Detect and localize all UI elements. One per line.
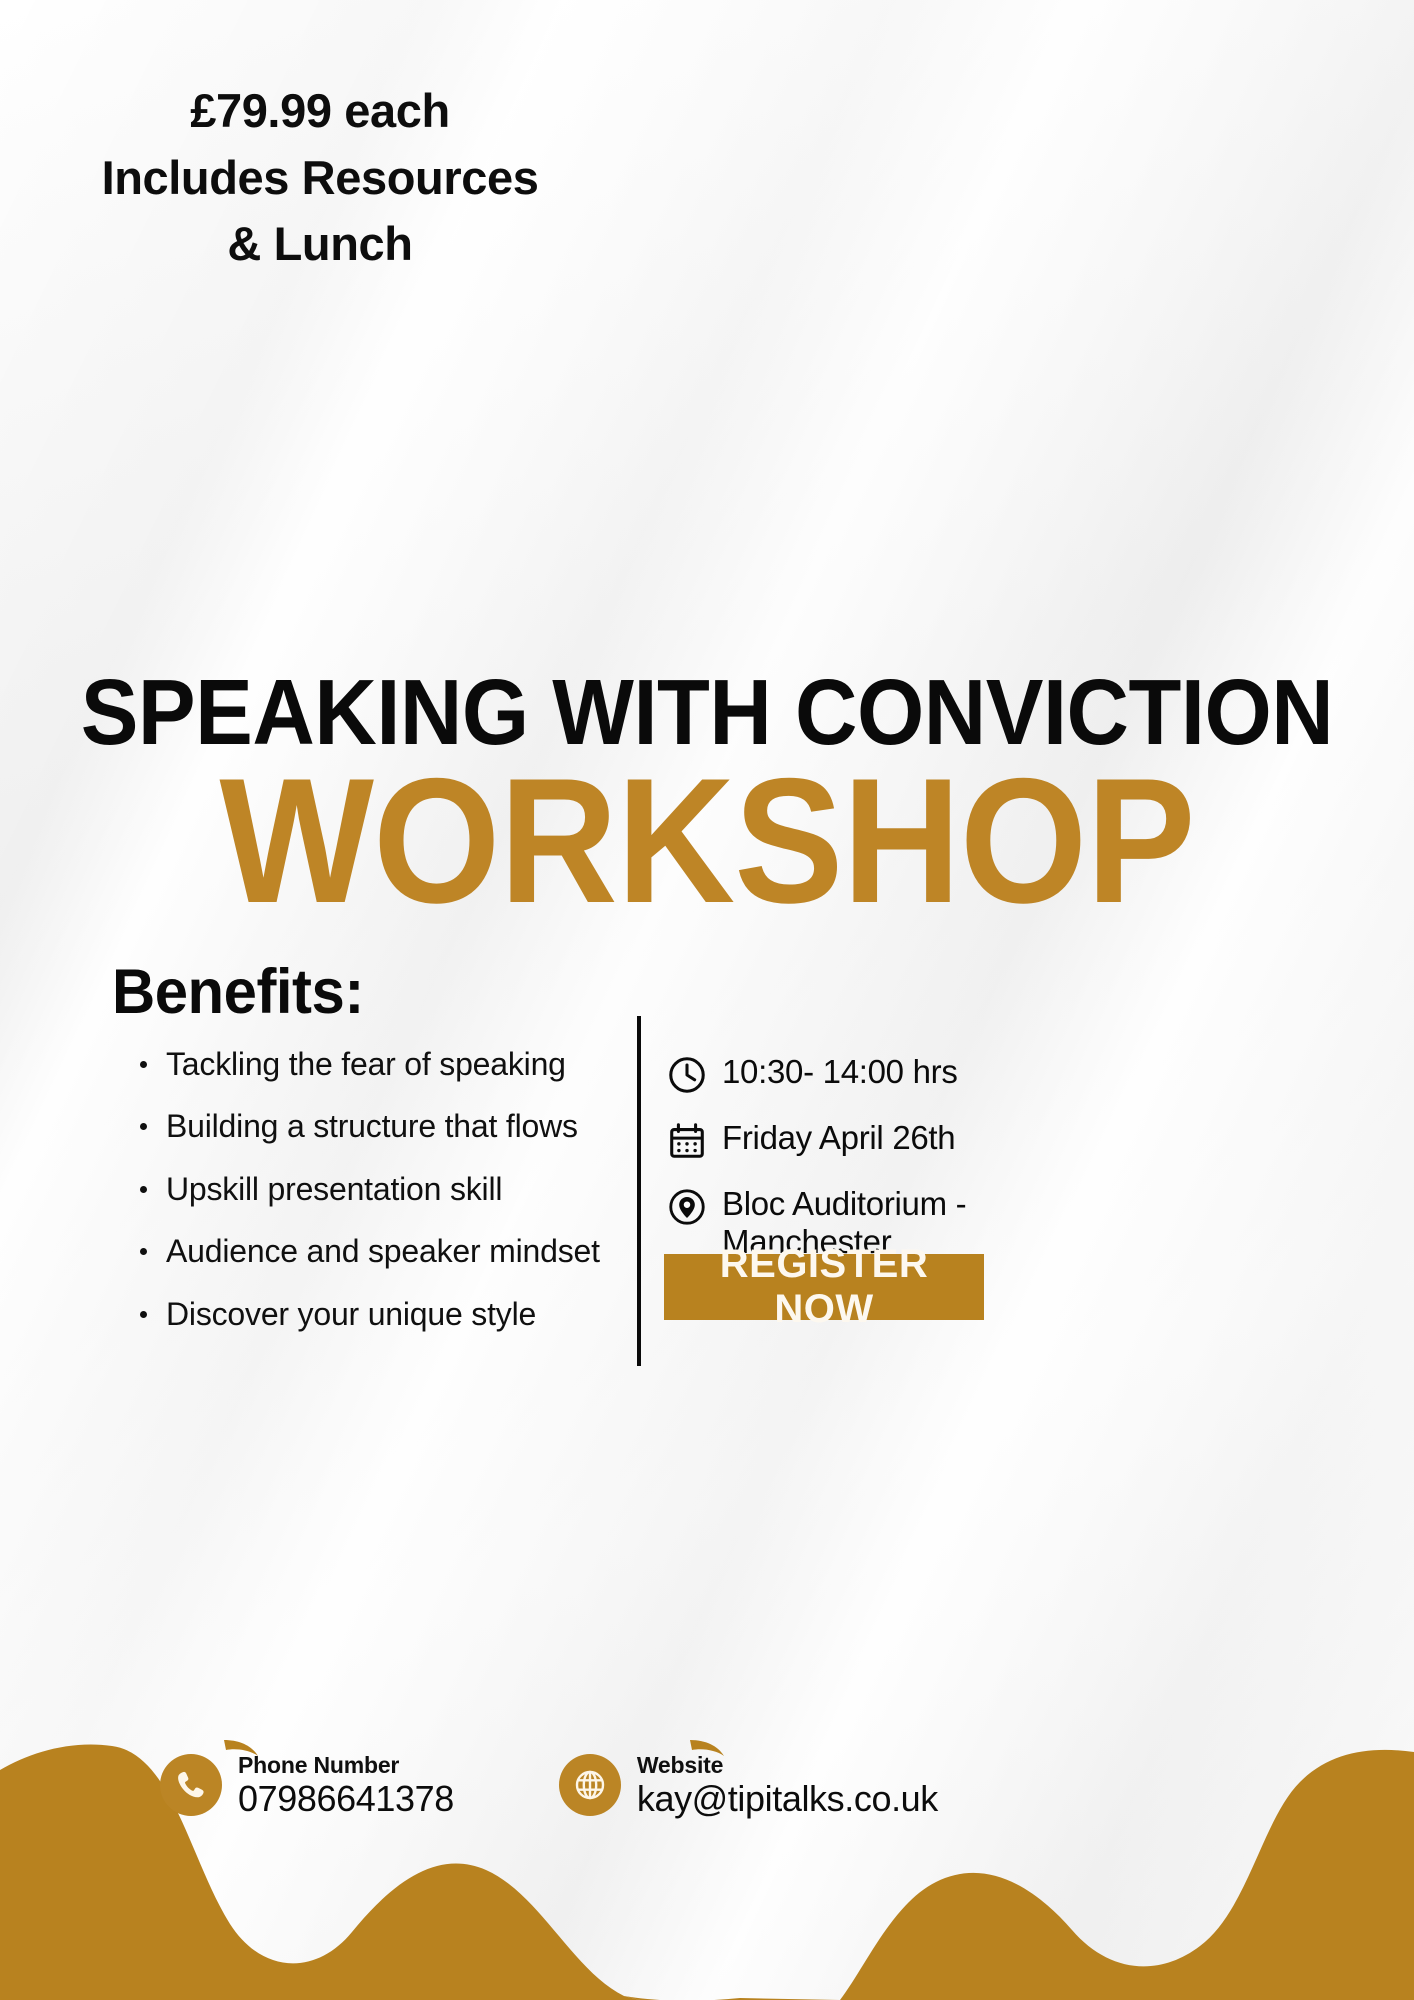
globe-icon [559,1754,621,1816]
poster-canvas: £79.99 each Includes Resources & Lunch S… [0,0,1414,2000]
benefits-heading: Benefits: [112,956,364,1028]
clock-icon [664,1052,710,1098]
list-item: Building a structure that flows [130,1108,630,1144]
contact-phone-label: Phone Number [238,1752,454,1779]
contact-phone-value: 07986641378 [238,1780,454,1818]
detail-row-date: Friday April 26th [664,1116,1084,1164]
detail-time-text: 10:30- 14:00 hrs [722,1050,958,1091]
detail-date-text: Friday April 26th [722,1116,955,1157]
contact-website-text: Website kay@tipitalks.co.uk [637,1752,938,1818]
list-item: Audience and speaker mindset [130,1233,630,1269]
contact-website-value: kay@tipitalks.co.uk [637,1780,938,1818]
price-line-1: £79.99 each [30,78,610,145]
location-pin-icon [664,1184,710,1230]
phone-icon [160,1754,222,1816]
price-line-3: & Lunch [30,211,610,278]
benefits-list: Tackling the fear of speaking Building a… [130,1046,630,1358]
contact-footer: Phone Number 07986641378 Website kay@tip… [0,1752,1414,1818]
contact-phone-text: Phone Number 07986641378 [238,1752,454,1818]
price-block: £79.99 each Includes Resources & Lunch [30,78,610,278]
vertical-divider [637,1016,641,1366]
contact-website-label: Website [637,1752,938,1779]
detail-row-time: 10:30- 14:00 hrs [664,1050,1084,1098]
register-now-button[interactable]: REGISTER NOW [664,1254,984,1320]
list-item: Discover your unique style [130,1296,630,1332]
list-item: Upskill presentation skill [130,1171,630,1207]
list-item: Tackling the fear of speaking [130,1046,630,1082]
contact-phone[interactable]: Phone Number 07986641378 [160,1752,454,1818]
contact-website[interactable]: Website kay@tipitalks.co.uk [559,1752,938,1818]
page-subtitle: WORKSHOP [57,752,1358,930]
price-line-2: Includes Resources [30,145,610,212]
calendar-icon [664,1118,710,1164]
